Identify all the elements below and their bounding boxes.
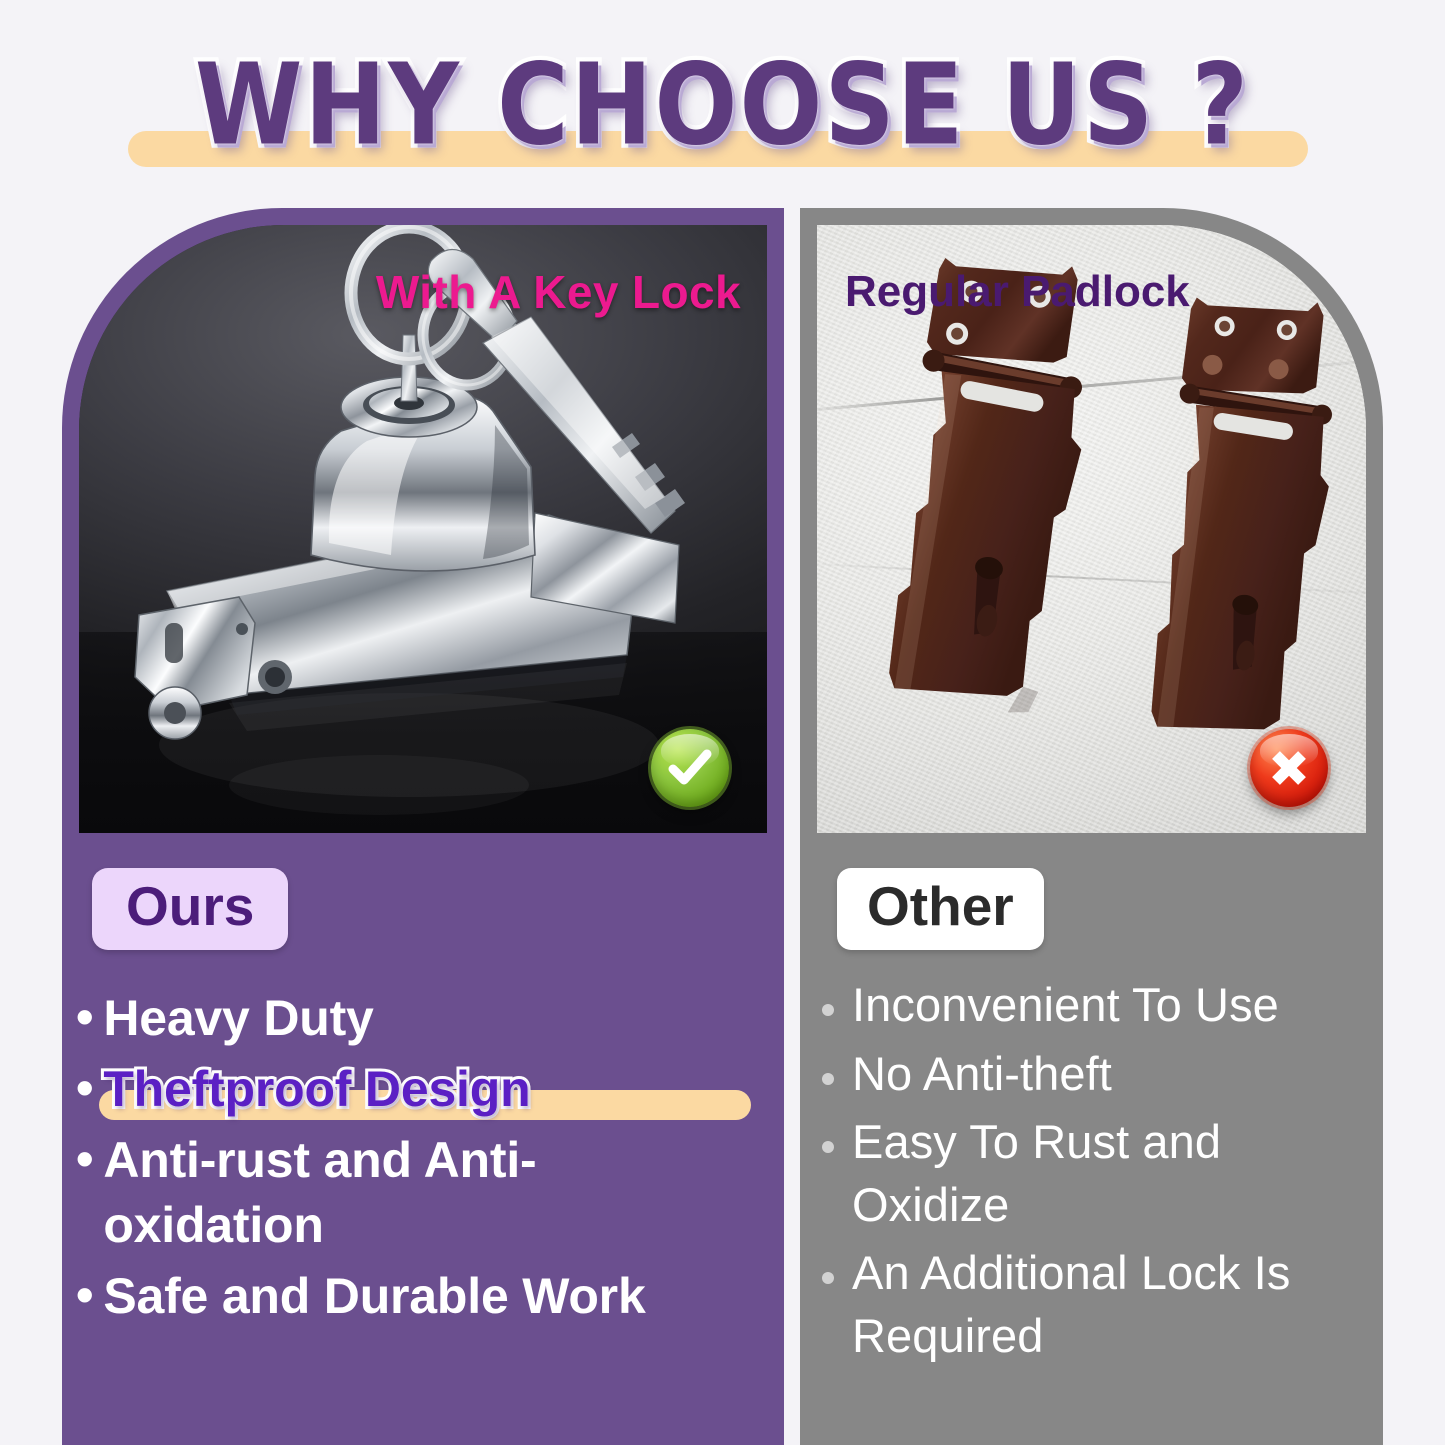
list-item: • Anti-rust and Anti-oxidation bbox=[76, 1128, 776, 1258]
bullet-icon: • bbox=[76, 1134, 93, 1184]
bullet-icon: • bbox=[76, 1270, 93, 1320]
comparison-panel-ours: With A Key Lock Ours • Heavy Duty • Thef… bbox=[62, 208, 784, 1445]
other-product-photo: Regular Padlock bbox=[817, 225, 1366, 833]
check-icon bbox=[651, 729, 729, 807]
list-item: An Additional Lock Is Required bbox=[822, 1242, 1382, 1367]
list-item: Inconvenient To Use bbox=[822, 974, 1382, 1037]
list-item: Easy To Rust and Oxidize bbox=[822, 1111, 1382, 1236]
bullet-icon bbox=[822, 1272, 834, 1284]
other-heading-label: Other bbox=[867, 874, 1014, 938]
list-item: • Safe and Durable Work bbox=[76, 1264, 776, 1329]
other-feature-text: Inconvenient To Use bbox=[852, 974, 1382, 1037]
bullet-icon bbox=[822, 1004, 834, 1016]
ours-feature-list: • Heavy Duty • Theftproof Design • Anti-… bbox=[76, 986, 776, 1335]
check-glyph bbox=[667, 745, 713, 791]
bullet-icon: • bbox=[76, 1063, 93, 1113]
ours-feature-text: Safe and Durable Work bbox=[103, 1264, 776, 1329]
other-feature-text: An Additional Lock Is Required bbox=[852, 1242, 1322, 1367]
list-item: • Theftproof Design bbox=[76, 1057, 776, 1122]
ours-feature-text: Heavy Duty bbox=[103, 986, 776, 1051]
other-feature-text: No Anti-theft bbox=[852, 1043, 1382, 1106]
infographic-root: WHY CHOOSE US ? bbox=[0, 0, 1445, 1445]
list-item: No Anti-theft bbox=[822, 1043, 1382, 1106]
ours-product-photo: With A Key Lock bbox=[79, 225, 767, 833]
other-feature-list: Inconvenient To Use No Anti-theft Easy T… bbox=[822, 974, 1382, 1373]
page-title: WHY CHOOSE US ? bbox=[0, 40, 1445, 171]
ours-feature-text-highlighted: Theftproof Design bbox=[103, 1061, 530, 1117]
other-heading-badge: Other bbox=[837, 868, 1044, 950]
cross-glyph bbox=[1266, 745, 1312, 791]
other-photo-caption: Regular Padlock bbox=[845, 267, 1190, 317]
bullet-icon bbox=[822, 1073, 834, 1085]
bullet-icon bbox=[822, 1141, 834, 1153]
comparison-panel-other: Regular Padlock Other Inconvenient To Us… bbox=[800, 208, 1383, 1445]
other-feature-text: Easy To Rust and Oxidize bbox=[852, 1111, 1272, 1236]
ours-heading-badge: Ours bbox=[92, 868, 288, 950]
ours-heading-label: Ours bbox=[126, 874, 254, 938]
cross-icon bbox=[1250, 729, 1328, 807]
list-item: • Heavy Duty bbox=[76, 986, 776, 1051]
ours-feature-text: Anti-rust and Anti-oxidation bbox=[103, 1128, 553, 1258]
bullet-icon: • bbox=[76, 992, 93, 1042]
ours-photo-caption: With A Key Lock bbox=[376, 265, 741, 319]
page-header: WHY CHOOSE US ? bbox=[0, 18, 1445, 178]
